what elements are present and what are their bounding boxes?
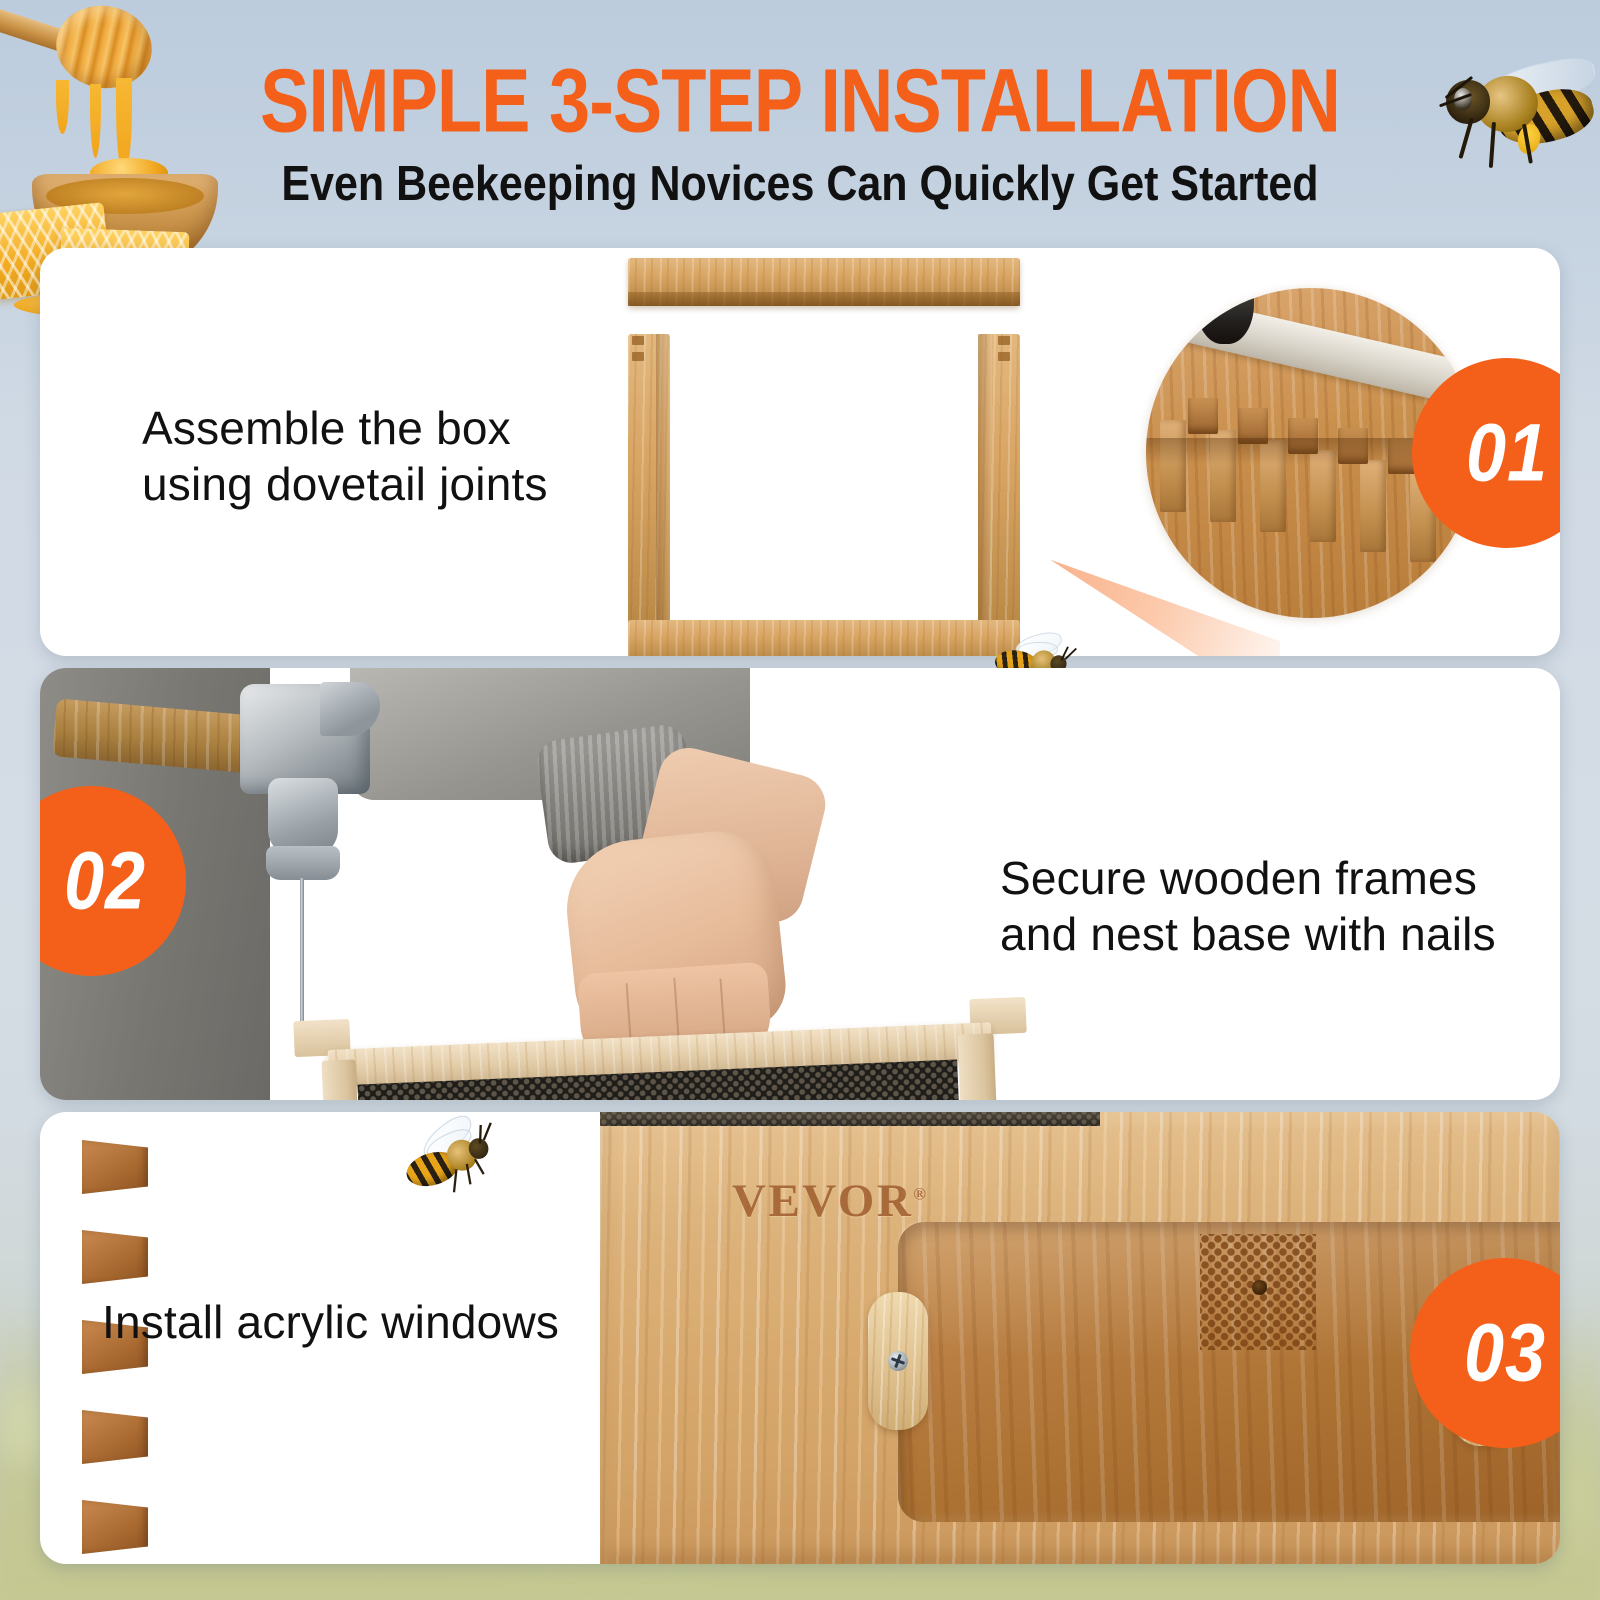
step-panel-2[interactable]: Secure wooden frames and nest base with …: [40, 668, 1560, 1100]
step-2-description: Secure wooden frames and nest base with …: [1000, 850, 1560, 962]
infographic-canvas: SIMPLE 3-STEP INSTALLATION Even Beekeepi…: [0, 0, 1600, 1600]
dovetail-pin: [82, 1500, 148, 1554]
step-panel-1[interactable]: Assemble the box using dovetail joints 0…: [40, 248, 1560, 656]
registered-mark: ®: [913, 1184, 926, 1203]
header: SIMPLE 3-STEP INSTALLATION Even Beekeepi…: [0, 0, 1600, 240]
dovetail-notch: [632, 336, 644, 345]
vevor-wordmark: VEVOR: [732, 1175, 913, 1227]
page-title: SIMPLE 3-STEP INSTALLATION: [0, 56, 1600, 146]
page-subtitle: Even Beekeeping Novices Can Quickly Get …: [0, 160, 1600, 209]
ventilation-center-hole: [1252, 1280, 1267, 1295]
frame-side-bar: [322, 1059, 361, 1100]
bee-leg: [474, 1159, 485, 1175]
nail: [300, 878, 304, 1040]
step-badge-01-number: 01: [1466, 406, 1548, 499]
dovetail-pin: [1188, 398, 1218, 434]
hive-box-left-inner-edge: [656, 334, 670, 656]
step-1-line-1: Assemble the box: [142, 400, 572, 456]
frame-side-bar: [958, 1033, 999, 1100]
dovetail-pin: [82, 1410, 148, 1464]
step-3-line-1: Install acrylic windows: [102, 1294, 622, 1350]
dovetail-finger: [1160, 420, 1186, 512]
dovetail-pin: [82, 1140, 148, 1194]
dovetail-pin: [82, 1230, 148, 1284]
step-2-line-1: Secure wooden frames: [1000, 850, 1560, 906]
hammer-neck: [268, 778, 338, 856]
step-badge-02-number: 02: [64, 834, 146, 927]
hive-box-bottom-rail: [628, 620, 1020, 656]
dovetail-notch: [998, 352, 1010, 361]
dovetail-notch: [632, 352, 644, 361]
step-badge-03-number: 03: [1464, 1306, 1546, 1399]
hammer-face: [266, 846, 340, 880]
screw-icon: [888, 1351, 908, 1371]
vevor-brand-logo: VEVOR®: [732, 1174, 926, 1228]
step-1-description: Assemble the box using dovetail joints: [142, 400, 572, 512]
step-2-line-2: and nest base with nails: [1000, 906, 1560, 962]
hive-box-right-inner-edge: [978, 334, 992, 656]
window-latch-left[interactable]: [868, 1292, 928, 1430]
step-panel-3[interactable]: VEVOR®: [40, 1112, 1560, 1564]
hive-box-top-rail: [628, 258, 1020, 306]
dovetail-finger: [1360, 460, 1386, 552]
dovetail-notch: [998, 336, 1010, 345]
bee-antenna: [483, 1122, 492, 1140]
step-1-line-2: using dovetail joints: [142, 456, 572, 512]
step-3-description: Install acrylic windows: [102, 1294, 622, 1350]
